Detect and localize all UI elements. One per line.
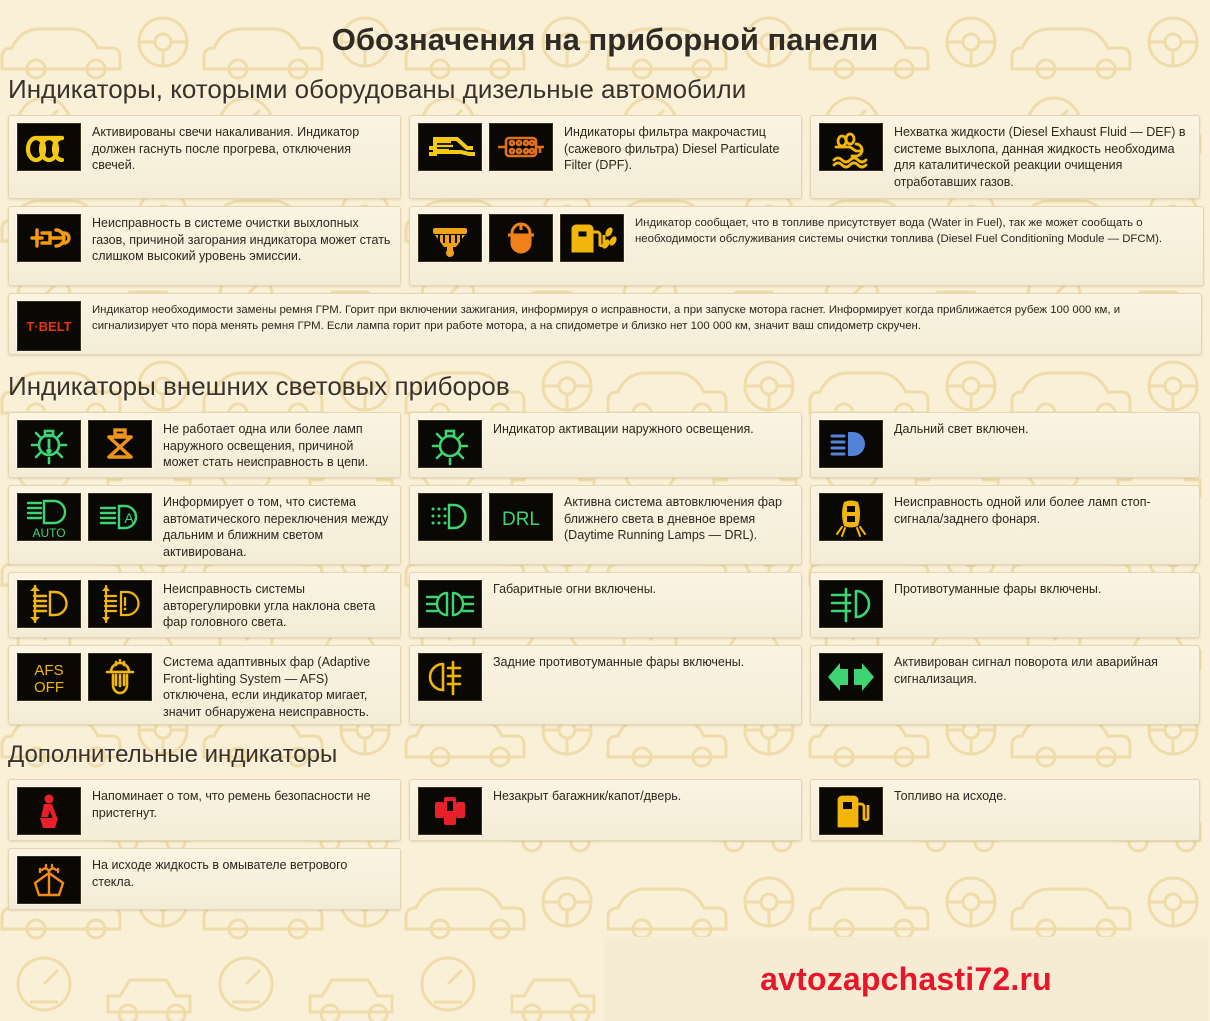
icon-group — [17, 787, 81, 835]
card-description: Индикаторы фильтра макрочастиц (сажевого… — [564, 123, 793, 174]
card-description: Напоминает о том, что ремень безопасност… — [92, 787, 392, 821]
card-water-in-fuel[interactable]: Индикатор сообщает, что в топливе присут… — [409, 206, 1204, 286]
rear-lamp-fault-icon — [819, 493, 883, 541]
t-belt-icon: T·BELT — [17, 301, 81, 351]
additional-col-1: Напоминает о том, что ремень безопасност… — [8, 779, 401, 910]
svg-text:OFF: OFF — [34, 679, 64, 696]
card-afs-off[interactable]: AFS OFF Система адапти — [8, 645, 401, 725]
page-title: Обозначения на приборной панели — [0, 0, 1210, 58]
icon-group — [418, 580, 482, 628]
card-dpf[interactable]: Индикаторы фильтра макрочастиц (сажевого… — [409, 115, 802, 199]
icon-group: AFS OFF — [17, 653, 152, 701]
brand-text: avtozapchasti72.ru — [760, 961, 1052, 998]
card-rear-fog[interactable]: Задние противотуманные фары включены. — [409, 645, 802, 725]
afs-bulb-icon — [88, 653, 152, 701]
seat-belt-icon — [17, 787, 81, 835]
svg-text:AFS: AFS — [34, 662, 63, 679]
card-exterior-on[interactable]: Индикатор активации наружного освещения. — [409, 412, 802, 478]
rear-fog-icon — [418, 653, 482, 701]
icon-group — [418, 653, 482, 701]
icon-group — [17, 856, 81, 904]
bulb-warning-icon — [17, 420, 81, 468]
auto-beam-icon: AUTO — [17, 493, 81, 541]
card-description: Активна система автовключения фар ближне… — [564, 493, 793, 544]
icon-group — [17, 580, 152, 628]
svg-text:AUTO: AUTO — [32, 526, 65, 540]
svg-text:DRL: DRL — [502, 509, 540, 530]
icon-group — [418, 420, 482, 468]
card-description: Нехватка жидкости (Diesel Exhaust Fluid … — [894, 123, 1191, 190]
lights-col-1: Не работает одна или более ламп наружног… — [8, 412, 401, 725]
afs-off-icon: AFS OFF — [17, 653, 81, 701]
card-description: Неисправность в системе очистки выхлопны… — [92, 214, 392, 265]
headlight-leveling-warning-icon — [88, 580, 152, 628]
card-brake-lamp-fault[interactable]: Неисправность одной или более ламп стоп-… — [810, 485, 1200, 565]
lights-col-2: Индикатор активации наружного освещения. — [409, 412, 802, 725]
additional-col-3: Топливо на исходе. — [810, 779, 1200, 841]
diesel-col-3: Нехватка жидкости (Diesel Exhaust Fluid … — [810, 115, 1200, 199]
icon-group — [819, 123, 883, 171]
icon-group: T·BELT — [17, 301, 81, 351]
card-description: Неисправность одной или более ламп стоп-… — [894, 493, 1191, 527]
card-low-fuel[interactable]: Топливо на исходе. — [810, 779, 1200, 841]
card-description: Задние противотуманные фары включены. — [493, 653, 793, 671]
washer-fluid-icon — [17, 856, 81, 904]
dpf-muffler-icon — [489, 123, 553, 171]
fuel-pump-water-icon — [560, 214, 624, 262]
icon-group — [819, 493, 883, 541]
card-description: Дальний свет включен. — [894, 420, 1191, 438]
card-exhaust-fault[interactable]: Неисправность в системе очистки выхлопны… — [8, 206, 401, 286]
def-fluid-icon — [819, 123, 883, 171]
card-auto-high-beam[interactable]: AUTO A Информирует о том, что система ав… — [8, 485, 401, 565]
icon-group: AUTO A — [17, 493, 152, 541]
icon-group — [819, 580, 883, 628]
section-title-exterior-lights: Индикаторы внешних световых приборов — [8, 371, 1210, 402]
card-position-lamps[interactable]: Габаритные огни включены. — [409, 572, 802, 638]
card-headlight-leveling[interactable]: Неисправность системы авторегулировки уг… — [8, 572, 401, 638]
drl-text-icon: DRL — [489, 493, 553, 541]
exterior-light-icon — [418, 420, 482, 468]
card-def[interactable]: Нехватка жидкости (Diesel Exhaust Fluid … — [810, 115, 1200, 199]
icon-group — [17, 214, 81, 262]
card-door-open[interactable]: Незакрыт багажник/капот/дверь. — [409, 779, 802, 841]
card-description: Габаритные огни включены. — [493, 580, 793, 598]
card-description: Активирован сигнал поворота или аварийна… — [894, 653, 1191, 687]
icon-group — [17, 123, 81, 171]
brand-footer: avtozapchasti72.ru — [604, 937, 1208, 1021]
drl-lamp-icon — [418, 493, 482, 541]
card-description: Информирует о том, что система автоматич… — [163, 493, 392, 560]
card-t-belt[interactable]: T·BELT Индикатор необходимости замены ре… — [8, 293, 1202, 355]
card-washer-fluid[interactable]: На исходе жидкость в омывателе ветрового… — [8, 848, 401, 910]
icon-group — [819, 653, 883, 701]
section-title-additional: Дополнительные индикаторы — [8, 741, 1210, 769]
diesel-col-2: Индикаторы фильтра макрочастиц (сажевого… — [409, 115, 802, 286]
icon-group — [418, 214, 624, 262]
card-glow-plugs[interactable]: Активированы свечи накаливания. Индикато… — [8, 115, 401, 199]
front-fog-icon — [819, 580, 883, 628]
card-description: Незакрыт багажник/капот/дверь. — [493, 787, 793, 805]
card-description: На исходе жидкость в омывателе ветрового… — [92, 856, 392, 890]
card-description: Система адаптивных фар (Adaptive Front-l… — [163, 653, 392, 720]
lights-row: Не работает одна или более ламп наружног… — [0, 412, 1210, 725]
card-seat-belt[interactable]: Напоминает о том, что ремень безопасност… — [8, 779, 401, 841]
fuel-filter-icon — [418, 214, 482, 262]
beam-assist-icon: A — [88, 493, 152, 541]
high-beam-icon — [819, 420, 883, 468]
card-description: Не работает одна или более ламп наружног… — [163, 420, 392, 471]
glow-plug-icon — [17, 123, 81, 171]
card-high-beam[interactable]: Дальний свет включен. — [810, 412, 1200, 478]
lights-col-3: Дальний свет включен. — [810, 412, 1200, 725]
door-open-icon — [418, 787, 482, 835]
water-drop-filter-icon — [489, 214, 553, 262]
svg-text:T·BELT: T·BELT — [26, 319, 71, 334]
infographic-page: Обозначения на приборной панели Индикато… — [0, 0, 1210, 1021]
card-lamp-out[interactable]: Не работает одна или более ламп наружног… — [8, 412, 401, 478]
icon-group — [819, 787, 883, 835]
section-title-diesel: Индикаторы, которыми оборудованы дизельн… — [8, 74, 1210, 105]
card-description: Активированы свечи накаливания. Индикато… — [92, 123, 392, 174]
turn-signal-icon — [819, 653, 883, 701]
icon-group — [17, 420, 152, 468]
card-description: Индикатор активации наружного освещения. — [493, 420, 793, 438]
position-lamps-icon — [418, 580, 482, 628]
icon-group — [418, 123, 553, 171]
exhaust-fault-icon — [17, 214, 81, 262]
diesel-row-1: Активированы свечи накаливания. Индикато… — [0, 115, 1210, 286]
dpf-filter-icon — [418, 123, 482, 171]
fuel-pump-icon — [819, 787, 883, 835]
bulb-crossed-icon — [88, 420, 152, 468]
icon-group — [418, 787, 482, 835]
additional-row: Напоминает о том, что ремень безопасност… — [0, 779, 1210, 910]
svg-text:A: A — [124, 510, 134, 526]
additional-col-2: Незакрыт багажник/капот/дверь. — [409, 779, 802, 841]
card-description: Неисправность системы авторегулировки уг… — [163, 580, 392, 631]
card-description: Противотуманные фары включены. — [894, 580, 1191, 598]
card-drl[interactable]: DRL Активна система автовключения фар бл… — [409, 485, 802, 565]
card-turn-signal[interactable]: Активирован сигнал поворота или аварийна… — [810, 645, 1200, 725]
icon-group: DRL — [418, 493, 553, 541]
icon-group — [819, 420, 883, 468]
card-front-fog[interactable]: Противотуманные фары включены. — [810, 572, 1200, 638]
headlight-leveling-icon — [17, 580, 81, 628]
diesel-row-tbelt: T·BELT Индикатор необходимости замены ре… — [0, 293, 1210, 355]
card-description: Топливо на исходе. — [894, 787, 1191, 805]
diesel-col-1: Активированы свечи накаливания. Индикато… — [8, 115, 401, 286]
card-description: Индикатор сообщает, что в топливе присут… — [635, 214, 1195, 247]
card-description: Индикатор необходимости замены ремня ГРМ… — [92, 301, 1193, 334]
